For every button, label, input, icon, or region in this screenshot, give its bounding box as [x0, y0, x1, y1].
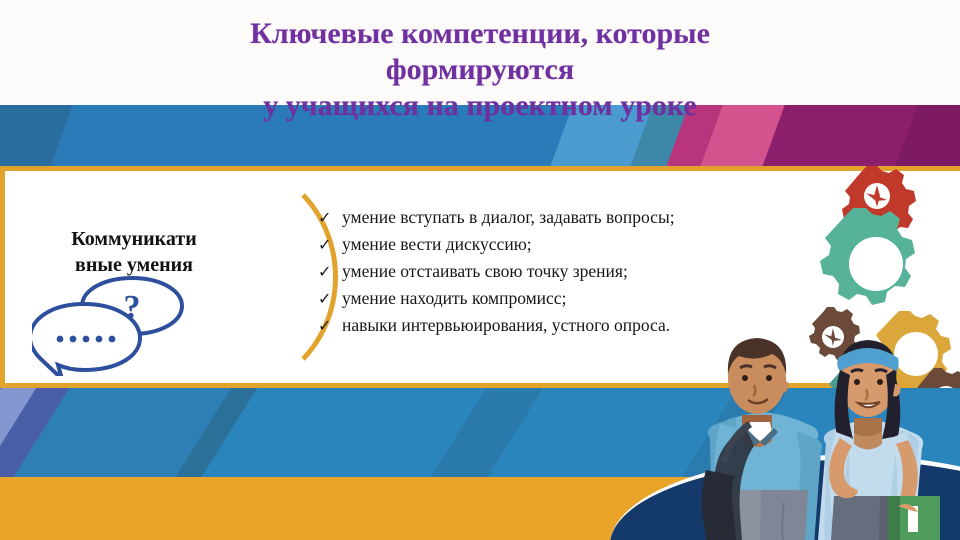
speech-bubble-dots-icon: [32, 304, 140, 376]
check-icon: ✓: [318, 313, 342, 339]
category-label-line-1: Коммуникати: [26, 226, 242, 252]
list-item: ✓ умение вступать в диалог, задавать воп…: [318, 204, 878, 231]
list-item: ✓ умение вести дискуссию;: [318, 231, 878, 258]
check-icon: ✓: [318, 232, 342, 258]
student-girl-figure: [818, 340, 940, 540]
title-line-1: Ключевые компетенции, которые: [60, 16, 900, 52]
list-item-label: умение отстаивать свою точку зрения;: [342, 258, 628, 284]
content-card-left-border: [0, 166, 5, 388]
list-item-label: навыки интервьюирования, устного опроса.: [342, 312, 670, 338]
student-boy-figure: [701, 338, 822, 540]
slide-canvas: Ключевые компетенции, которые формируютс…: [0, 0, 960, 540]
check-icon: ✓: [318, 259, 342, 285]
list-item: ✓ умение отстаивать свою точку зрения;: [318, 258, 878, 285]
title-line-3: у учащихся на проектном уроке: [60, 88, 900, 124]
list-item: ✓ умение находить компромисс;: [318, 285, 878, 312]
category-label-line-2: вные умения: [26, 252, 242, 278]
competency-list-items: ✓ умение вступать в диалог, задавать воп…: [318, 204, 878, 339]
competency-list: ✓ умение вступать в диалог, задавать воп…: [318, 204, 878, 339]
list-item-label: умение вести дискуссию;: [342, 231, 532, 257]
title-line-2: формируются: [60, 52, 900, 88]
check-icon: ✓: [318, 286, 342, 312]
list-item-label: умение вступать в диалог, задавать вопро…: [342, 204, 675, 230]
speech-bubbles-illustration: ?: [32, 276, 232, 376]
category-label: Коммуникати вные умения: [26, 226, 242, 278]
check-icon: ✓: [318, 205, 342, 231]
students-illustration: [690, 320, 960, 540]
list-item-label: умение находить компромисс;: [342, 285, 566, 311]
page-title: Ключевые компетенции, которые формируютс…: [60, 16, 900, 124]
